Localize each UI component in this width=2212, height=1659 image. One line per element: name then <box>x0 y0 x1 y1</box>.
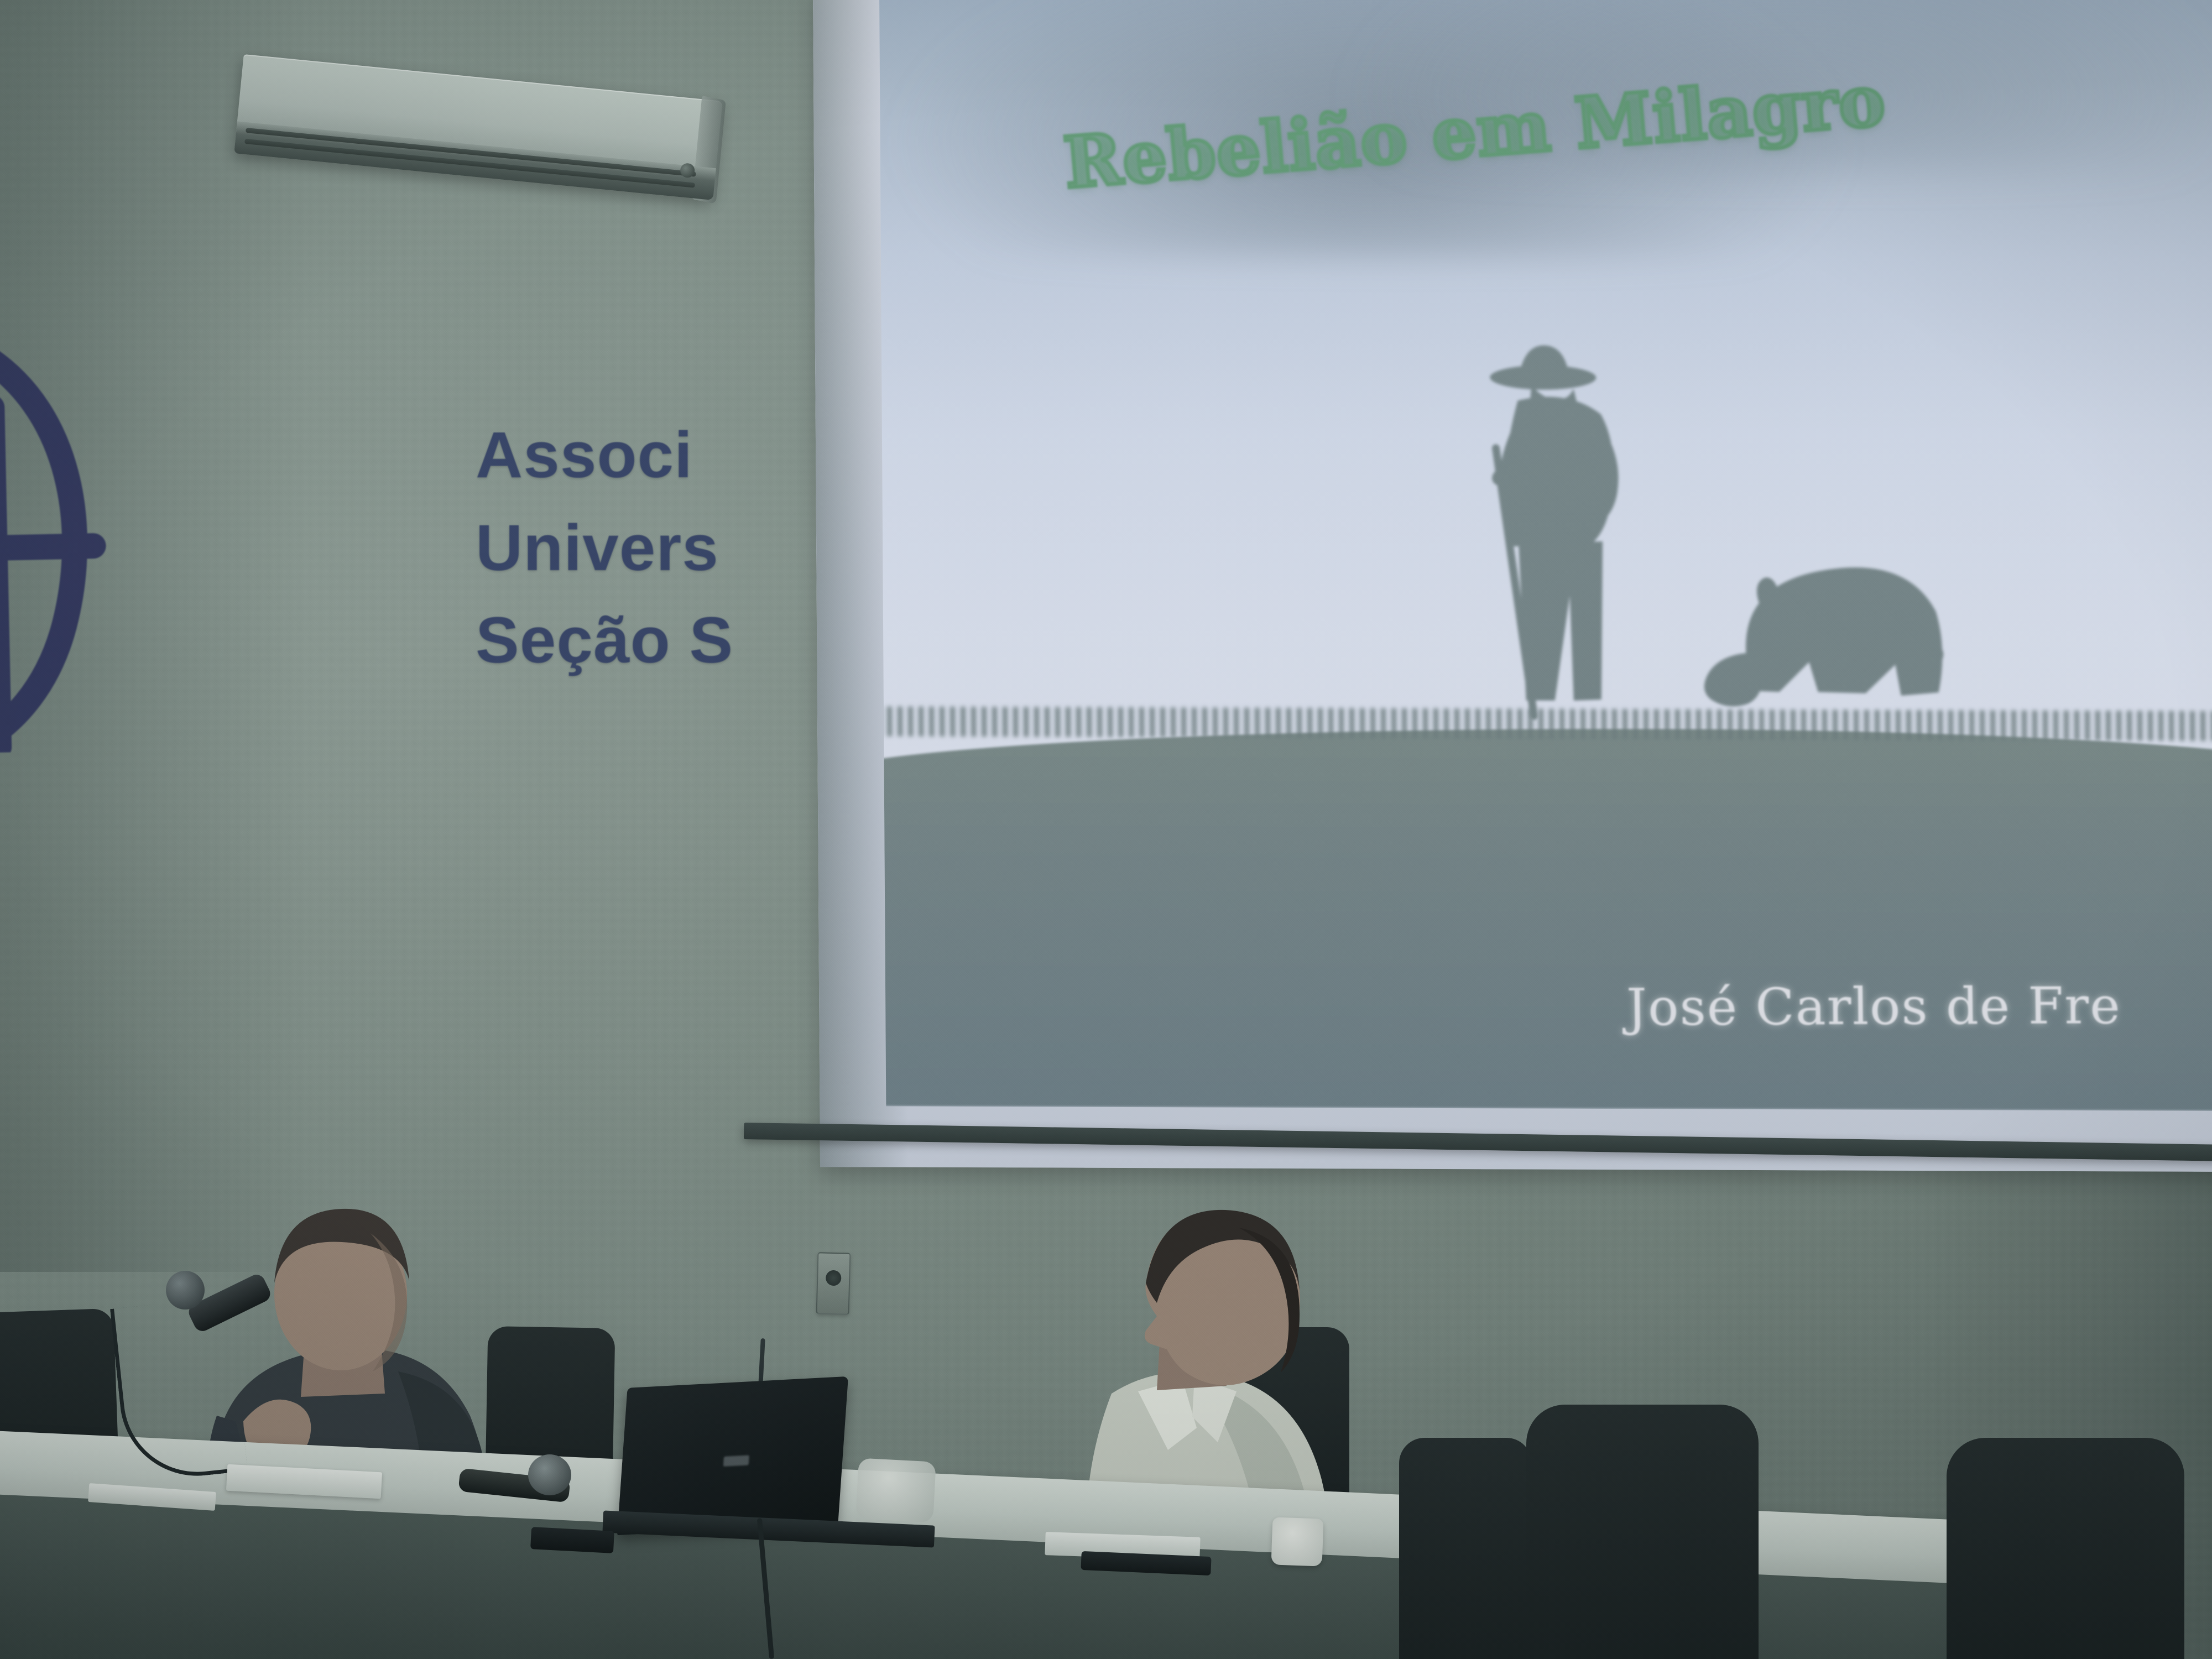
chair-back[interactable] <box>1526 1405 1759 1659</box>
wall-signage-line-3: Seção S <box>476 594 785 687</box>
chair-back[interactable] <box>1399 1438 1532 1659</box>
microphone-head-icon <box>528 1454 571 1495</box>
plastic-cup[interactable] <box>1271 1517 1324 1566</box>
laptop-logo-icon <box>723 1455 749 1466</box>
pig-silhouette-icon <box>1679 525 1945 748</box>
wall-signage-line-1: Associ <box>476 409 785 502</box>
wall-outlet[interactable] <box>816 1252 851 1315</box>
wall-signage-line-2: Univers <box>476 502 785 595</box>
ground-hill <box>879 726 2212 1111</box>
presentation-room-photo: Associ Univers Seção S Rebelião em Milag… <box>0 0 2212 1659</box>
projected-slide: Rebelião em Milagro <box>879 0 2212 1111</box>
slide-author: José Carlos de Fre <box>1626 976 2122 1037</box>
laptop[interactable] <box>617 1376 848 1535</box>
water-bottle[interactable] <box>855 1458 936 1522</box>
chair-back[interactable] <box>1947 1438 2184 1659</box>
outlet-socket-icon <box>826 1270 842 1286</box>
microphone-head-icon <box>166 1271 205 1310</box>
wall-signage: Associ Univers Seção S <box>476 409 785 687</box>
projection-screen: Rebelião em Milagro <box>813 0 2212 1172</box>
association-emblem-icon <box>0 308 114 754</box>
mobile-phone[interactable] <box>530 1527 614 1553</box>
farmer-with-staff-silhouette-icon <box>1434 334 1702 722</box>
